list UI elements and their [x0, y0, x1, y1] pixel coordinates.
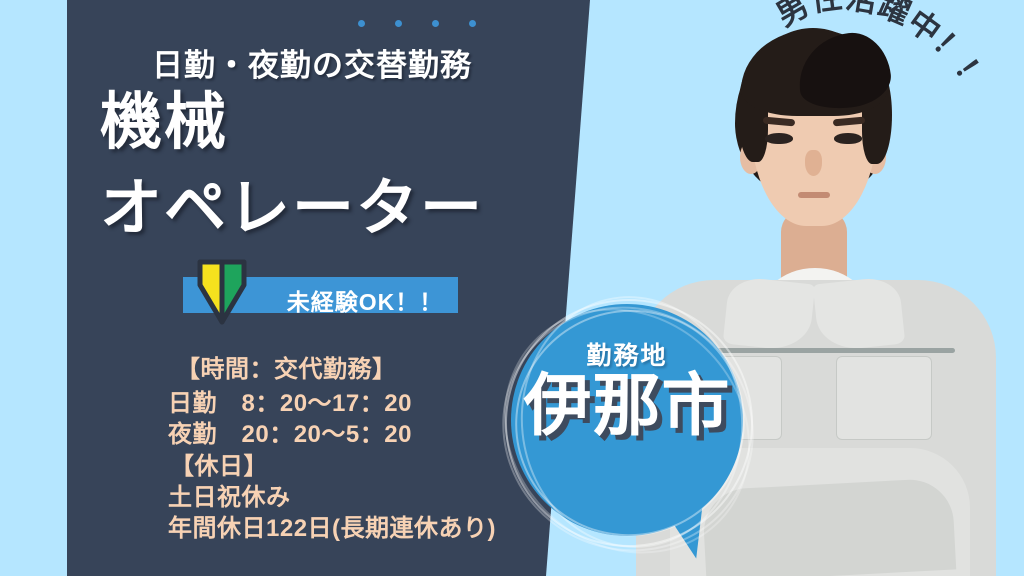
work-location-bubble: 勤務地 伊那市 — [493, 288, 763, 558]
photo-pocket-right — [836, 356, 932, 440]
detail-line-annual-holidays: 年間休日122日(長期連休あり) — [168, 508, 496, 543]
work-location-city: 伊那市 — [507, 372, 747, 440]
dot-icon — [395, 20, 402, 27]
left-accent-strip — [0, 0, 67, 576]
experience-badge-label: 未経験OK！！ — [270, 283, 460, 317]
curved-headline: 男性活躍中！！ — [760, 0, 1024, 184]
photo-mouth — [798, 192, 830, 198]
decorative-dots — [358, 20, 476, 27]
curved-headline-label: 男性活躍中！！ — [770, 0, 995, 98]
detail-line-day-shift: 日勤 8：20〜17：20 — [168, 383, 412, 418]
dot-icon — [432, 20, 439, 27]
beginner-leaf-mark-icon — [196, 259, 248, 325]
detail-line-hours-heading: 【時間：交代勤務】 — [176, 349, 397, 384]
detail-line-holiday-heading: 【休日】 — [170, 446, 268, 481]
subtitle: 日勤・夜勤の交替勤務 — [152, 40, 472, 85]
page-title-line-1: 機械 — [100, 92, 228, 154]
job-ad-banner: 男性活躍中！！ 日勤・夜勤の交替勤務 機械 オペレーター 未経験OK！！ 【時間… — [0, 0, 1024, 576]
detail-line-weekend-holidays: 土日祝休み — [168, 477, 291, 512]
dot-icon — [469, 20, 476, 27]
page-title-line-2: オペレーター — [100, 178, 484, 240]
dot-icon — [358, 20, 365, 27]
detail-line-night-shift: 夜勤 20：20〜5：20 — [168, 414, 412, 449]
work-location-label: 勤務地 — [511, 336, 743, 372]
